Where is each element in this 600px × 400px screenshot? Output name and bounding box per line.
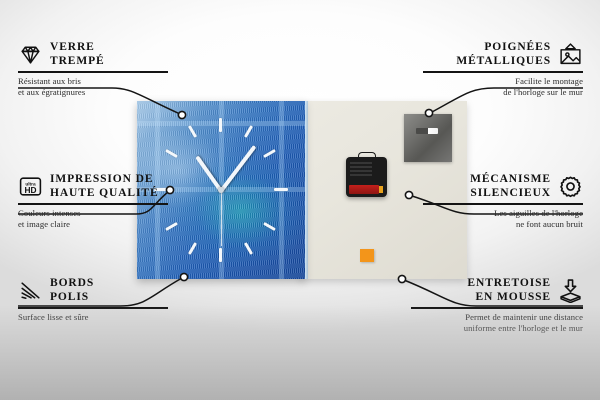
feature-impression-haute-qualite[interactable]: ultra HD IMPRESSION DE HAUTE QUALITÉ Cou… — [18, 172, 168, 231]
feature-divider — [423, 71, 583, 73]
feature-desc-line2: ne font aucun bruit — [423, 219, 583, 231]
feature-desc-line1: Permet de maintenir une distance — [411, 312, 583, 324]
feature-desc-line2: uniforme entre l'horloge et le mur — [411, 323, 583, 335]
metal-hanger-plate — [404, 114, 452, 162]
clock-tick — [219, 118, 222, 132]
foam-spacer — [360, 249, 374, 262]
mechanism-hook — [358, 152, 376, 160]
feature-header: BORDS POLIS — [18, 276, 168, 304]
feature-divider — [18, 71, 168, 73]
feature-title-line1: POIGNÉES — [456, 40, 551, 54]
picture-frame-hanging-icon — [558, 42, 583, 67]
feature-description: Surface lisse et sûre — [18, 312, 168, 324]
feature-header: ultra HD IMPRESSION DE HAUTE QUALITÉ — [18, 172, 168, 200]
feature-desc-line2: de l'horloge sur le mur — [423, 87, 583, 99]
feature-desc-line2: et aux égratignures — [18, 87, 168, 99]
feature-verre-trempe[interactable]: VERRE TREMPÉ Résistant aux bris et aux é… — [18, 40, 168, 99]
feature-divider — [18, 307, 168, 309]
feature-header: MÉCANISME SILENCIEUX — [423, 172, 583, 200]
ultra-hd-icon: ultra HD — [18, 174, 43, 199]
feature-desc-line2: et image claire — [18, 219, 168, 231]
feature-poignees-metalliques[interactable]: POIGNÉES MÉTALLIQUES Facilite le montage… — [423, 40, 583, 99]
hanger-slot — [416, 128, 438, 134]
feature-title-line2: POLIS — [50, 290, 94, 304]
feature-description: Permet de maintenir une distance uniform… — [411, 312, 583, 335]
feature-desc-line1: Facilite le montage — [423, 76, 583, 88]
feature-description: Les aiguilles de l'horloge ne font aucun… — [423, 208, 583, 231]
gear-icon — [558, 174, 583, 199]
feature-title: ENTRETOISE EN MOUSSE — [467, 276, 551, 304]
glass-edge-highlight — [305, 101, 308, 279]
mechanism-label — [350, 162, 372, 176]
feature-header: POIGNÉES MÉTALLIQUES — [423, 40, 583, 68]
infographic-canvas: VERRE TREMPÉ Résistant aux bris et aux é… — [0, 0, 600, 400]
polished-edges-icon — [18, 278, 43, 303]
battery — [349, 185, 379, 194]
clock-tick — [219, 248, 222, 262]
feature-header: ENTRETOISE EN MOUSSE — [411, 276, 583, 304]
feature-title-line1: VERRE — [50, 40, 105, 54]
feature-title-line2: SILENCIEUX — [470, 186, 551, 200]
product-image — [137, 101, 467, 279]
feature-bords-polis[interactable]: BORDS POLIS Surface lisse et sûre — [18, 276, 168, 323]
feature-divider — [423, 203, 583, 205]
feature-description: Facilite le montage de l'horloge sur le … — [423, 76, 583, 99]
feature-title: MÉCANISME SILENCIEUX — [470, 172, 551, 200]
clock-second-hand — [221, 190, 222, 246]
svg-text:HD: HD — [24, 184, 36, 194]
feature-description: Couleurs intenses et image claire — [18, 208, 168, 231]
foam-spacer-icon — [558, 278, 583, 303]
feature-title-line1: MÉCANISME — [470, 172, 551, 186]
feature-desc-line1: Couleurs intenses — [18, 208, 168, 220]
feature-title-line2: HAUTE QUALITÉ — [50, 186, 159, 200]
feature-title-line2: MÉTALLIQUES — [456, 54, 551, 68]
diamond-icon — [18, 42, 43, 67]
feature-description: Résistant aux bris et aux égratignures — [18, 76, 168, 99]
clock-mechanism — [346, 157, 387, 197]
feature-header: VERRE TREMPÉ — [18, 40, 168, 68]
feature-title-line2: TREMPÉ — [50, 54, 105, 68]
feature-entretoise-en-mousse[interactable]: ENTRETOISE EN MOUSSE Permet de maintenir… — [411, 276, 583, 335]
feature-title: IMPRESSION DE HAUTE QUALITÉ — [50, 172, 159, 200]
feature-title: VERRE TREMPÉ — [50, 40, 105, 68]
feature-mecanisme-silencieux[interactable]: MÉCANISME SILENCIEUX Les aiguilles de l'… — [423, 172, 583, 231]
clock-tick — [274, 188, 288, 191]
feature-title-line2: EN MOUSSE — [467, 290, 551, 304]
feature-title-line1: IMPRESSION DE — [50, 172, 159, 186]
feature-title-line1: ENTRETOISE — [467, 276, 551, 290]
feature-title: BORDS POLIS — [50, 276, 94, 304]
feature-title: POIGNÉES MÉTALLIQUES — [456, 40, 551, 68]
feature-desc-line1: Résistant aux bris — [18, 76, 168, 88]
feature-divider — [411, 307, 583, 309]
clock-center-cap — [218, 187, 224, 193]
feature-desc-line1: Les aiguilles de l'horloge — [423, 208, 583, 220]
feature-title-line1: BORDS — [50, 276, 94, 290]
feature-desc-line1: Surface lisse et sûre — [18, 312, 168, 324]
feature-divider — [18, 203, 168, 205]
